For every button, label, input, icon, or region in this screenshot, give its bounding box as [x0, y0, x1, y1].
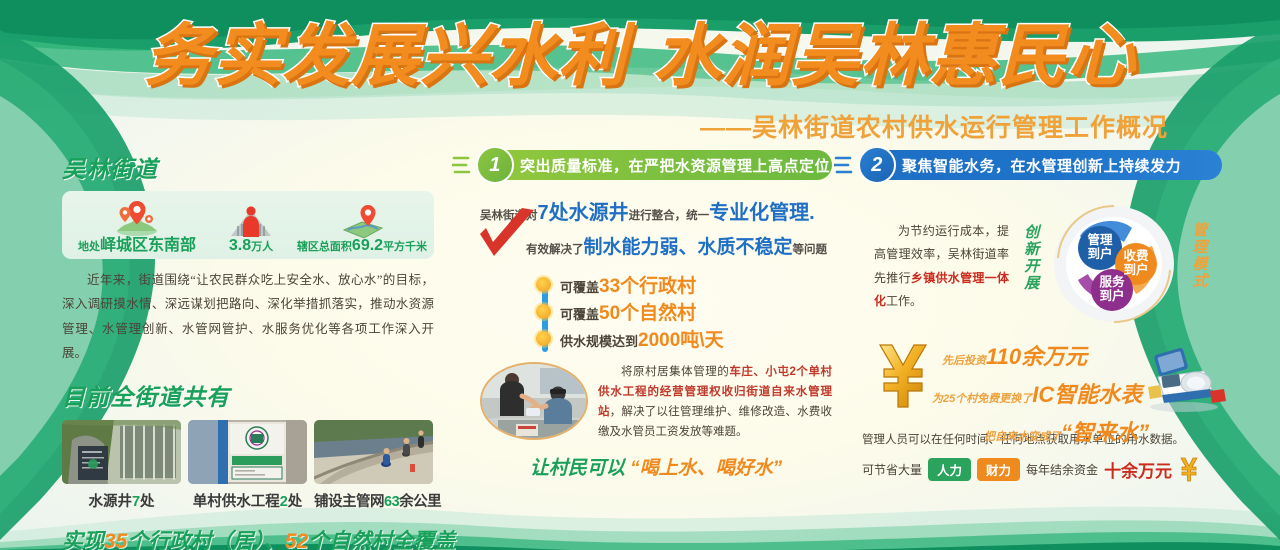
mid-line-1-b: 7处水源井 [538, 202, 629, 224]
left-tagline: 实现35个行政村（居）、52个自然村全覆盖 [62, 525, 434, 550]
svg-text:服务: 服务 [1099, 274, 1125, 289]
caption-2-pre: 单村供水工程 [193, 494, 280, 510]
svg-text:到户: 到户 [1087, 246, 1112, 261]
right-paragraph-c: 工作。 [886, 294, 922, 308]
bullet-1-pre: 可覆盖 [560, 280, 599, 295]
investment-line-1-big: 110余万元 [986, 344, 1087, 369]
caption-2: 单村供水工程2处 [188, 490, 307, 511]
bullet-item-2: 可覆盖50个自然村 [538, 298, 832, 325]
section-banner-2-text: 聚焦智能水务，在水管理创新上持续发力 [902, 155, 1181, 176]
footer-surplus-amount: 十余万元 [1104, 457, 1172, 482]
diagram-label-right: 管理模式 [1190, 222, 1207, 290]
map-pin-icon [62, 197, 212, 237]
bullet-dot-icon [536, 331, 551, 346]
caption-1-pre: 水源井 [88, 494, 132, 510]
street-info-box: 地处峄城区东南部 3.8万人 [62, 191, 434, 259]
title-part-1: 务实发展兴水利 [144, 18, 627, 94]
bullet-text-2: 可覆盖50个自然村 [538, 298, 696, 325]
section-number-1: 1 [476, 146, 514, 184]
caption-1-post: 处 [140, 494, 155, 510]
mid-line-2-c: 等问题 [793, 244, 828, 256]
caption-3-pre: 铺设主管网 [314, 494, 384, 510]
bullet-text-3: 供水规模达到2000吨\天 [538, 325, 724, 352]
left-tagline-p2: 个行政村（居）、 [127, 530, 285, 550]
village-water-sign-photo [188, 420, 307, 484]
left-tagline-p3: 个自然村全覆盖 [308, 530, 455, 550]
investment-row: 先后投资110余万元 为25个村免费更换了IC智能水表 把自来水变成了“智来水” [862, 333, 1222, 429]
caption-1-num: 7 [132, 494, 140, 510]
left-tagline-n2: 52 [285, 530, 308, 550]
investment-line-3: 把自来水变成了“智来水” [932, 415, 1182, 447]
footer-label-surplus: 每年结余资金 [1026, 461, 1098, 478]
bullet-dot-icon [536, 277, 551, 292]
mid-tagline: 让村民可以 “喝上水、喝好水” [480, 453, 832, 480]
section-banner-2: 2 聚焦智能水务，在水管理创新上持续发力 [862, 150, 1222, 180]
left-tagline-n1: 35 [104, 530, 127, 550]
mid-line-1-d: 专业化管理 [709, 202, 809, 224]
water-well-monument-photo [62, 420, 181, 484]
page-title: 务实发展兴水利水润吴林惠民心 [0, 22, 1280, 90]
section-banner-1: 1 突出质量标准，在严把水资源管理上高点定位 [480, 150, 832, 180]
investment-line-2-big: IC智能水表 [1032, 382, 1142, 407]
info-cell-area: 辖区总面积69.2平方千米 [290, 237, 434, 259]
left-column: 吴林街道 地处峄城区东南部 [62, 150, 434, 550]
right-diagram-row: 为节约运行成本，提高管理效率，吴林街道率先推行乡镇供水管理一体化工作。 创新开展… [862, 196, 1222, 331]
svg-text:收费: 收费 [1123, 248, 1149, 263]
mid-tagline-orange: “喝上水、喝好水” [630, 458, 782, 479]
management-model-diagram: 管理 到户 收费 到户 服务 到户 [1044, 198, 1184, 330]
mid-line-2-b: 制水能力弱、水质不稳定 [584, 237, 793, 258]
mid-paragraph: 将原村居集体管理的车庄、小屯2个单村供水工程的经营管理权收归街道自来水管理站，解… [598, 362, 832, 443]
bullet-item-3: 供水规模达到2000吨\天 [538, 325, 832, 352]
investment-line-3-small: 把自来水变成了 [984, 431, 1061, 443]
left-heading: 吴林街道 [62, 150, 434, 184]
middle-column: 1 突出质量标准，在严把水资源管理上高点定位 吴林街道对7处水源井进行整合，统一… [480, 150, 832, 480]
investment-line-2-small: 为25个村免费更换了 [932, 393, 1032, 405]
bullet-2-num: 50 [599, 303, 620, 324]
bullet-text-1: 可覆盖33个行政村 [538, 271, 696, 298]
caption-1: 水源井7处 [62, 490, 181, 511]
bullet-3-num: 2000 [638, 330, 680, 351]
mid-line-1-c: 进行整合，统一 [629, 210, 710, 222]
svg-text:管理: 管理 [1087, 232, 1113, 247]
caption-3: 铺设主管网63余公里 [314, 490, 433, 511]
section-banner-1-text: 突出质量标准，在严把水资源管理上高点定位 [520, 155, 830, 176]
chip-financial: 财力 [977, 458, 1020, 481]
caption-2-post: 处 [288, 494, 303, 510]
bullet-dot-icon [536, 304, 551, 319]
mid-photo-row: 将原村居集体管理的车庄、小屯2个单村供水工程的经营管理权收归街道自来水管理站，解… [480, 362, 832, 443]
poster-root: 务实发展兴水利水润吴林惠民心 ——吴林街道农村供水运行管理工作概况 吴林街道 [0, 0, 1280, 550]
svg-text:到户: 到户 [1099, 288, 1124, 303]
footer-label-save: 可节省大量 [862, 461, 922, 478]
caption-3-post: 余公里 [399, 494, 441, 510]
right-paragraph: 为节约运行成本，提高管理效率，吴林街道率先推行乡镇供水管理一体化工作。 [874, 220, 1009, 314]
ic-smart-water-meter-image [1134, 345, 1230, 415]
left-heading-2: 目前全街道共有 [62, 378, 434, 412]
pipeline-construction-photo [314, 420, 433, 484]
right-footer-line-2: 可节省大量 人力 财力 每年结余资金 十余万元 [862, 456, 1222, 482]
mid-tagline-green: 让村民可以 [530, 458, 625, 479]
bullet-list: 可覆盖33个行政村 可覆盖50个自然村 供水规模达到2000吨\天 [480, 271, 832, 352]
map-area-pin-icon [290, 203, 434, 243]
yen-coin-icon [872, 341, 934, 411]
info-value-location: 峄城区东南部 [100, 237, 196, 254]
bullet-1-post: 个行政村 [620, 276, 696, 297]
bullet-1-num: 33 [599, 276, 620, 297]
water-station-service-photo [480, 362, 588, 440]
section-number-2: 2 [858, 146, 896, 184]
photo-captions: 水源井7处 单村供水工程2处 铺设主管网63余公里 [62, 490, 434, 511]
mid-paragraph-c: ，解决了以往管理维护、维修改造、水费收缴及水管员工资发放等难题。 [598, 406, 832, 438]
caption-3-num: 63 [384, 494, 399, 510]
investment-line-3-big: “智来水” [1061, 420, 1149, 445]
photo-gallery [62, 420, 434, 484]
people-crowd-icon [212, 203, 290, 243]
chip-manpower: 人力 [928, 458, 971, 481]
info-cell-population: 3.8万人 [212, 237, 290, 259]
check-mark-icon [478, 208, 536, 260]
diagram-label-left: 创新开展 [1022, 224, 1039, 292]
left-paragraph: 近年来，街道围绕“让农民群众吃上安全水、放心水”的目标，深入调研摸水情、深远谋划… [62, 268, 434, 366]
svg-text:到户: 到户 [1123, 262, 1148, 277]
bullet-3-pre: 供水规模达到 [560, 334, 638, 349]
right-column: 2 聚焦智能水务，在水管理创新上持续发力 为节约运行成本，提高管理效率，吴林街道… [862, 150, 1222, 482]
bullet-2-post: 个自然村 [620, 303, 696, 324]
info-label-location: 地处 [78, 241, 100, 253]
mid-paragraph-a: 将原村居集体管理的 [621, 366, 729, 378]
bullet-3-post: 吨\天 [680, 330, 723, 351]
info-cell-location: 地处峄城区东南部 [62, 231, 212, 259]
mid-line-2: 有效解决了制水能力弱、水质不稳定等问题 [480, 232, 832, 259]
bullet-item-1: 可覆盖33个行政村 [538, 271, 832, 298]
yen-coin-small-icon [1178, 456, 1200, 482]
mid-line-1-e: . [809, 202, 815, 224]
title-part-2: 水润吴林惠民心 [653, 18, 1136, 94]
investment-line-1-small: 先后投资 [942, 355, 986, 367]
bullet-2-pre: 可覆盖 [560, 307, 599, 322]
page-subtitle: ——吴林街道农村供水运行管理工作概况 [700, 108, 1168, 144]
caption-2-num: 2 [280, 494, 288, 510]
title-block: 务实发展兴水利水润吴林惠民心 [0, 22, 1280, 90]
left-tagline-p1: 实现 [62, 530, 104, 550]
